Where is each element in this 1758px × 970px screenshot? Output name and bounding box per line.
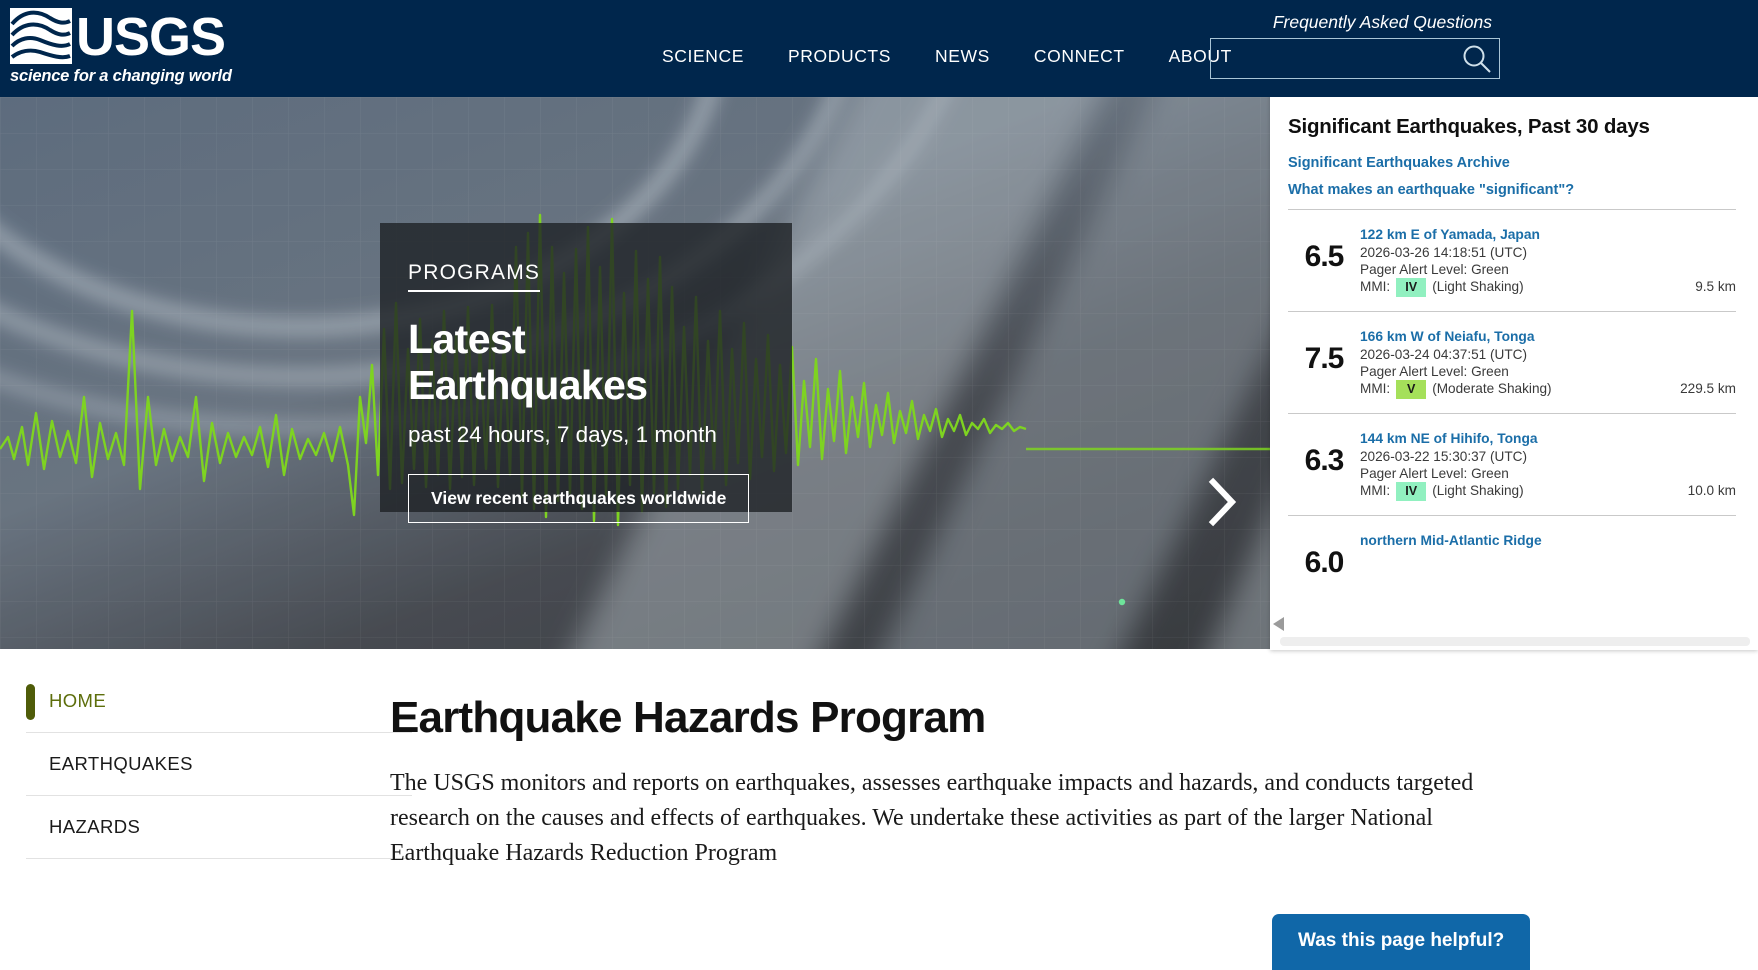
earthquake-shaking: (Light Shaking) xyxy=(1432,278,1523,295)
search-icon[interactable] xyxy=(1461,43,1493,75)
earthquake-time: 2026-03-26 14:18:51 (UTC) xyxy=(1360,244,1736,261)
hero-kicker: PROGRAMS xyxy=(408,261,540,292)
usgs-logo[interactable]: USGS science for a changing world xyxy=(10,8,240,88)
search-input[interactable] xyxy=(1211,39,1451,78)
nav-item-products[interactable]: PRODUCTS xyxy=(766,46,913,67)
nav-item-science[interactable]: SCIENCE xyxy=(640,46,766,67)
section-side-navigation: HOME EARTHQUAKES HAZARDS xyxy=(26,670,412,859)
earthquake-mmi-label: MMI: xyxy=(1360,278,1390,295)
earthquake-place-link[interactable]: 122 km E of Yamada, Japan xyxy=(1360,226,1736,244)
earthquake-depth: 10.0 km xyxy=(1678,482,1736,499)
earthquake-mmi-badge: IV xyxy=(1396,482,1426,501)
search-box[interactable] xyxy=(1210,38,1500,79)
was-this-page-helpful-button[interactable]: Was this page helpful? xyxy=(1272,914,1530,970)
sidebar-item-hazards[interactable]: HAZARDS xyxy=(26,796,412,859)
earthquake-shaking: (Moderate Shaking) xyxy=(1432,380,1551,397)
earthquake-mmi-label: MMI: xyxy=(1360,380,1390,397)
main-content: Earthquake Hazards Program The USGS moni… xyxy=(390,692,1510,871)
sidebar-item-earthquakes[interactable]: EARTHQUAKES xyxy=(26,733,412,796)
usgs-tagline: science for a changing world xyxy=(10,67,240,86)
earthquake-time: 2026-03-24 04:37:51 (UTC) xyxy=(1360,346,1736,363)
sidebar-item-label: EARTHQUAKES xyxy=(26,753,193,775)
hero-card: PROGRAMS Latest Earthquakes past 24 hour… xyxy=(380,223,792,512)
earthquake-depth: 229.5 km xyxy=(1670,380,1736,397)
horizontal-scrollbar[interactable] xyxy=(1280,637,1750,646)
earthquake-mmi-label: MMI: xyxy=(1360,482,1390,499)
earthquake-depth: 9.5 km xyxy=(1685,278,1736,295)
earthquake-pager-alert: Pager Alert Level: Green xyxy=(1360,465,1736,482)
panel-fade-overlay xyxy=(1270,608,1758,636)
carousel-next-arrow-icon[interactable] xyxy=(1195,472,1249,532)
nav-item-connect[interactable]: CONNECT xyxy=(1012,46,1147,67)
sidebar-item-home[interactable]: HOME xyxy=(26,670,412,733)
faq-link[interactable]: Frequently Asked Questions xyxy=(1273,12,1492,33)
earthquake-magnitude: 7.5 xyxy=(1288,328,1360,376)
significant-earthquakes-panel: Significant Earthquakes, Past 30 days Si… xyxy=(1270,88,1758,650)
earthquake-place-link[interactable]: 144 km NE of Hihifo, Tonga xyxy=(1360,430,1736,448)
view-recent-earthquakes-button[interactable]: View recent earthquakes worldwide xyxy=(408,474,749,523)
panel-heading: Significant Earthquakes, Past 30 days xyxy=(1288,114,1736,139)
significant-earthquakes-archive-link[interactable]: Significant Earthquakes Archive xyxy=(1288,155,1736,171)
scroll-left-arrow-icon[interactable] xyxy=(1272,616,1286,632)
hero-subtitle: past 24 hours, 7 days, 1 month xyxy=(408,422,764,448)
site-header: USGS science for a changing world SCIENC… xyxy=(0,0,1758,97)
active-indicator-bar xyxy=(26,684,35,720)
list-item[interactable]: 6.0 northern Mid-Atlantic Ridge xyxy=(1288,515,1736,594)
hero-title: Latest Earthquakes xyxy=(408,316,764,408)
usgs-wave-mark-icon xyxy=(10,8,72,64)
sidebar-item-label: HOME xyxy=(26,690,106,712)
list-item[interactable]: 7.5 166 km W of Neiafu, Tonga 2026-03-24… xyxy=(1288,311,1736,413)
earthquake-time: 2026-03-22 15:30:37 (UTC) xyxy=(1360,448,1736,465)
earthquake-pager-alert: Pager Alert Level: Green xyxy=(1360,261,1736,278)
hero-carousel: PROGRAMS Latest Earthquakes past 24 hour… xyxy=(0,97,1406,649)
earthquake-pager-alert: Pager Alert Level: Green xyxy=(1360,363,1736,380)
earthquake-magnitude: 6.5 xyxy=(1288,226,1360,274)
sidebar-item-label: HAZARDS xyxy=(26,816,140,838)
main-navigation: SCIENCE PRODUCTS NEWS CONNECT ABOUT xyxy=(640,46,1254,67)
panel-links: Significant Earthquakes Archive What mak… xyxy=(1288,155,1736,198)
earthquake-magnitude: 6.3 xyxy=(1288,430,1360,478)
list-item[interactable]: 6.5 122 km E of Yamada, Japan 2026-03-26… xyxy=(1288,209,1736,311)
earthquake-mmi-badge: V xyxy=(1396,380,1426,399)
earthquake-magnitude: 6.0 xyxy=(1288,532,1360,580)
page-title: Earthquake Hazards Program xyxy=(390,692,1510,744)
earthquake-place-link[interactable]: 166 km W of Neiafu, Tonga xyxy=(1360,328,1736,346)
earthquake-place-link[interactable]: northern Mid-Atlantic Ridge xyxy=(1360,532,1736,550)
usgs-logo-text: USGS xyxy=(76,10,225,64)
what-makes-significant-link[interactable]: What makes an earthquake "significant"? xyxy=(1288,182,1736,198)
earthquake-list: 6.5 122 km E of Yamada, Japan 2026-03-26… xyxy=(1288,209,1736,594)
earthquake-mmi-badge: IV xyxy=(1396,278,1426,297)
earthquake-shaking: (Light Shaking) xyxy=(1432,482,1523,499)
list-item[interactable]: 6.3 144 km NE of Hihifo, Tonga 2026-03-2… xyxy=(1288,413,1736,515)
page-body-text: The USGS monitors and reports on earthqu… xyxy=(390,766,1510,871)
nav-item-news[interactable]: NEWS xyxy=(913,46,1012,67)
